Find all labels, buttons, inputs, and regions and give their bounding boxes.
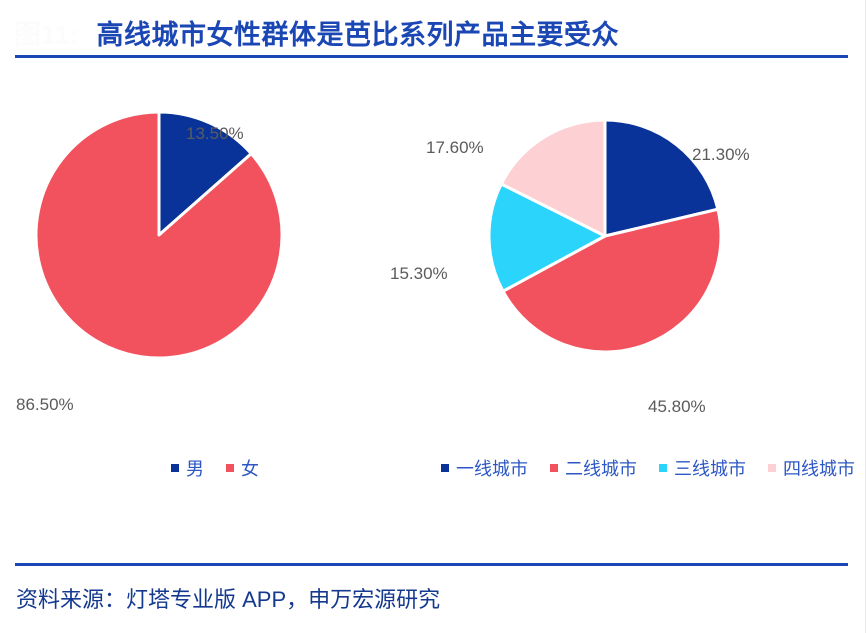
legend-label: 四线城市: [783, 455, 855, 481]
legend-item-tier2[interactable]: 二线城市: [550, 455, 637, 481]
legend-label: 男: [186, 455, 204, 481]
pie-slice-label: 17.60%: [426, 138, 484, 158]
source-note: 资料来源：灯塔专业版 APP，申万宏源研究: [16, 582, 440, 614]
legend-swatch-icon: [226, 464, 234, 472]
legend-item-tier3[interactable]: 三线城市: [659, 455, 746, 481]
pie-slice-label: 21.30%: [692, 145, 750, 165]
city-tier-pie-panel: 21.30% 45.80% 15.30% 17.60% 一线城市 二线城市 三线…: [430, 60, 866, 500]
legend-swatch-icon: [171, 464, 179, 472]
legend-label: 三线城市: [674, 455, 746, 481]
pie-slice-label: 13.50%: [186, 124, 244, 144]
legend-item-female[interactable]: 女: [226, 455, 259, 481]
figure-header: 图11: 高线城市女性群体是芭比系列产品主要受众: [0, 10, 866, 55]
pie-slice-label: 15.30%: [390, 264, 448, 284]
legend-label: 二线城市: [565, 455, 637, 481]
gender-legend: 男 女: [0, 455, 430, 481]
legend-item-male[interactable]: 男: [171, 455, 204, 481]
page-title: 高线城市女性群体是芭比系列产品主要受众: [79, 13, 620, 52]
pie-slice-label: 45.80%: [648, 397, 706, 417]
city-tier-pie-chart: [487, 118, 723, 354]
legend-label: 一线城市: [456, 455, 528, 481]
gender-pie-panel: 13.50% 86.50% 男 女: [0, 60, 430, 500]
legend-label: 女: [241, 455, 259, 481]
pie-slice-label: 86.50%: [16, 395, 74, 415]
city-tier-legend: 一线城市 二线城市 三线城市 四线城市: [430, 455, 866, 481]
legend-swatch-icon: [550, 464, 558, 472]
legend-swatch-icon: [768, 464, 776, 472]
legend-swatch-icon: [659, 464, 667, 472]
footer-divider: [15, 563, 848, 566]
legend-swatch-icon: [441, 464, 449, 472]
figure-number-label: 图11:: [0, 13, 79, 52]
gender-pie-chart: [34, 110, 284, 360]
legend-item-tier4[interactable]: 四线城市: [768, 455, 855, 481]
legend-item-tier1[interactable]: 一线城市: [441, 455, 528, 481]
chart-figure-page: 图11: 高线城市女性群体是芭比系列产品主要受众 13.50% 86.50% 男…: [0, 0, 866, 633]
title-divider-top: [15, 55, 848, 58]
charts-container: 13.50% 86.50% 男 女 21.30% 45.80% 15.30% 1…: [0, 60, 866, 560]
